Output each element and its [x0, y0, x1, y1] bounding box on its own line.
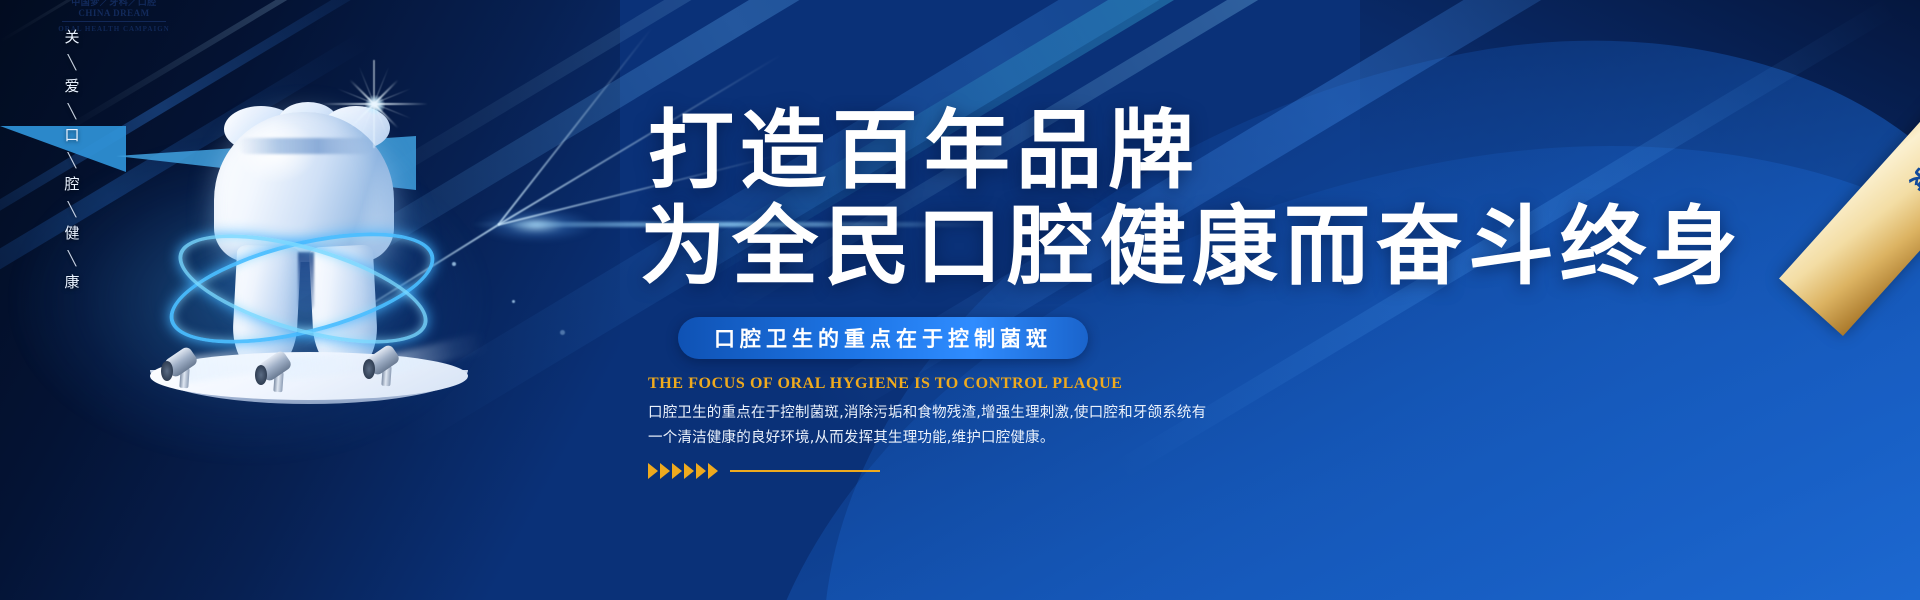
- subtitle-pill[interactable]: 口腔卫生的重点在于控制菌斑: [678, 317, 1088, 359]
- chevron-right-icon: [708, 463, 718, 479]
- chevron-right-icon: [684, 463, 694, 479]
- spotlight-lens: [255, 365, 267, 385]
- body-paragraph: 口腔卫生的重点在于控制菌斑,消除污垢和食物残渣,增强生理刺激,使口腔和牙颌系统有…: [648, 401, 1208, 451]
- copy-block: 打造百年品牌 为全民口腔健康而奋斗终身 口腔卫生的重点在于控制菌斑 THE FO…: [640, 108, 1840, 479]
- chevron-right-icon: [660, 463, 670, 479]
- spotlight-lens: [161, 361, 173, 381]
- vertical-char-1: 爱: [64, 79, 79, 94]
- vertical-separator: ╲: [68, 202, 76, 216]
- watermark-line-1: 中国梦／牙科／口腔: [54, 0, 174, 8]
- vertical-separator: ╲: [68, 251, 76, 265]
- vertical-char-5: 康: [64, 275, 79, 290]
- spotlight-lens: [363, 359, 375, 379]
- sparkle-icon: [374, 104, 376, 106]
- vertical-char-0: 关: [64, 30, 79, 45]
- vertical-separator: ╲: [68, 153, 76, 167]
- headline-line-2: 为全民口腔健康而奋斗终身: [640, 204, 1840, 292]
- chevron-right-icon: [696, 463, 706, 479]
- dental-banner: 中国梦／牙科／口腔 CHINA DREAM ORAL HEALTH CAMPAI…: [0, 0, 1920, 600]
- chevron-right-icon: [648, 463, 658, 479]
- chevron-right-icon: [672, 463, 682, 479]
- spark-dot: [560, 330, 565, 335]
- watermark-rule: [62, 21, 166, 22]
- vertical-char-4: 健: [64, 226, 79, 241]
- headline-line-1: 打造百年品牌: [648, 108, 1840, 196]
- english-subtitle: THE FOCUS OF ORAL HYGIENE IS TO CONTROL …: [648, 375, 1840, 393]
- gold-rule: [730, 470, 880, 472]
- vertical-separator: ╲: [68, 55, 76, 69]
- vertical-char-3: 腔: [64, 177, 79, 192]
- watermark-line-2: CHINA DREAM: [54, 8, 174, 19]
- tooth-fissure: [238, 138, 372, 154]
- vertical-separator: ╲: [68, 104, 76, 118]
- vertical-char-2: 口: [64, 128, 79, 143]
- spark-dot: [512, 300, 515, 303]
- vertical-slogan: 关 ╲ 爱 ╲ 口 ╲ 腔 ╲ 健 ╲ 康: [44, 24, 100, 314]
- pedestal: [150, 352, 468, 420]
- chevron-divider: [648, 463, 1840, 479]
